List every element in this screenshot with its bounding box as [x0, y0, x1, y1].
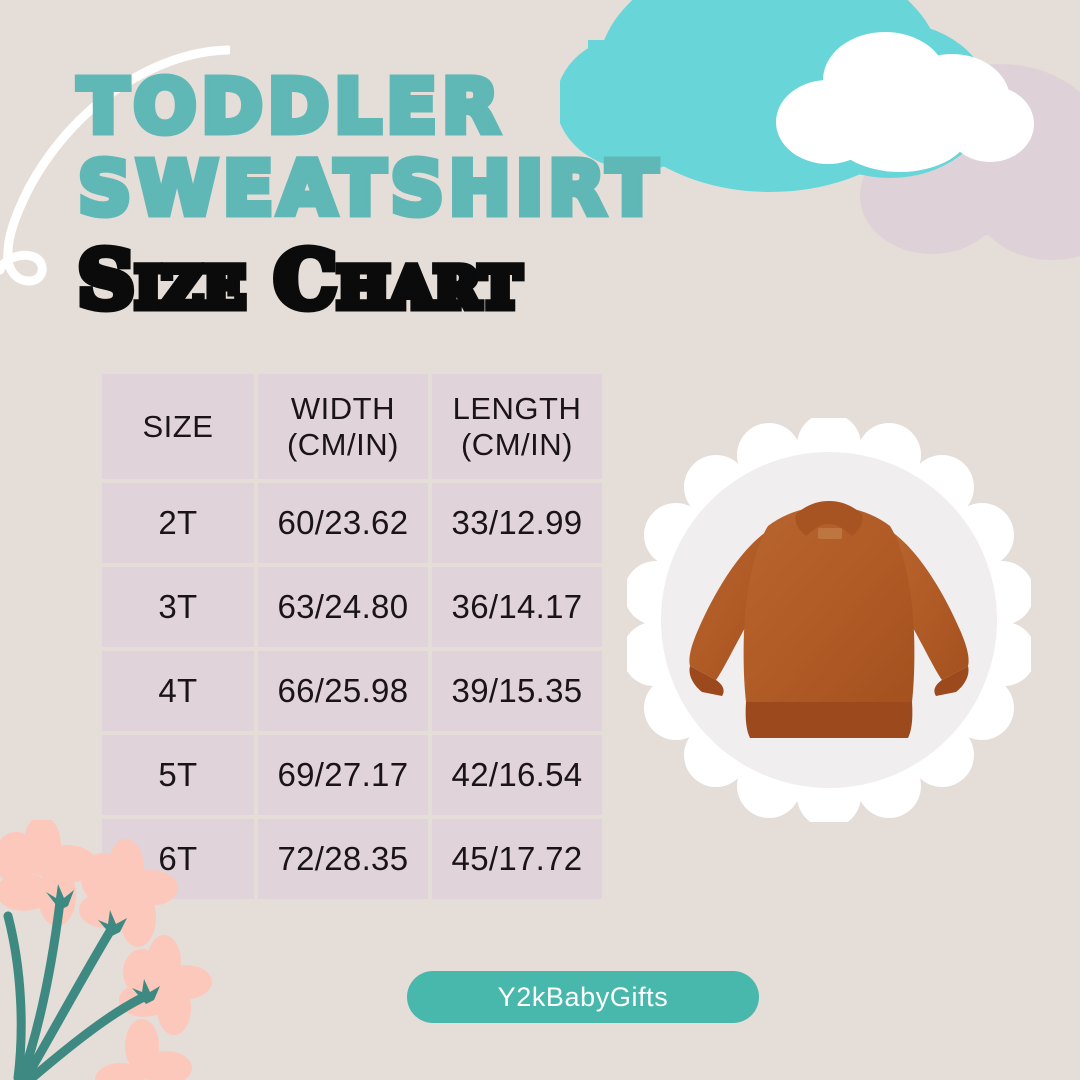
cell-width: 72/28.35: [258, 819, 428, 899]
table-header-row: SIZE WIDTH (CM/IN) LENGTH (CM/IN): [102, 374, 602, 479]
swirl-loop-icon: [0, 252, 42, 281]
cell-width: 60/23.62: [258, 483, 428, 563]
size-chart-table: SIZE WIDTH (CM/IN) LENGTH (CM/IN) 2T 60/…: [98, 370, 606, 903]
product-photo-background: [661, 452, 997, 788]
column-header-length-line2: (CM/IN): [432, 427, 602, 463]
cell-length: 39/15.35: [432, 651, 602, 731]
poster-heading: TODDLER SWEATSHIRT Size Chart: [78, 72, 778, 320]
cell-size: 6T: [102, 819, 254, 899]
column-header-length-line1: LENGTH: [432, 391, 602, 427]
cell-size: 2T: [102, 483, 254, 563]
cell-length: 45/17.72: [432, 819, 602, 899]
column-header-size-line1: SIZE: [102, 409, 254, 445]
cloud-white-icon: [776, 32, 1034, 172]
cell-length: 42/16.54: [432, 735, 602, 815]
table-row: 4T 66/25.98 39/15.35: [102, 651, 602, 731]
size-chart-poster: TODDLER SWEATSHIRT Size Chart SIZE WIDTH…: [0, 0, 1080, 1080]
table-header: SIZE WIDTH (CM/IN) LENGTH (CM/IN): [102, 374, 602, 479]
column-header-width: WIDTH (CM/IN): [258, 374, 428, 479]
column-header-width-line1: WIDTH: [258, 391, 428, 427]
column-header-length: LENGTH (CM/IN): [432, 374, 602, 479]
title-line-1: TODDLER: [78, 72, 778, 144]
table-row: 5T 69/27.17 42/16.54: [102, 735, 602, 815]
cell-width: 66/25.98: [258, 651, 428, 731]
cloud-mauve-icon: [860, 64, 1080, 260]
column-header-width-line2: (CM/IN): [258, 427, 428, 463]
table-row: 2T 60/23.62 33/12.99: [102, 483, 602, 563]
table-body: 2T 60/23.62 33/12.99 3T 63/24.80 36/14.1…: [102, 483, 602, 899]
table-row: 3T 63/24.80 36/14.17: [102, 567, 602, 647]
title-line-2: SWEATSHIRT: [78, 154, 778, 226]
cell-length: 33/12.99: [432, 483, 602, 563]
page-title: Size Chart: [78, 242, 778, 320]
sweatshirt-image: [664, 470, 994, 770]
cell-size: 3T: [102, 567, 254, 647]
cell-width: 63/24.80: [258, 567, 428, 647]
cell-length: 36/14.17: [432, 567, 602, 647]
flower-stems-icon: [8, 902, 146, 1078]
table-row: 6T 72/28.35 45/17.72: [102, 819, 602, 899]
shop-name-badge[interactable]: Y2kBabyGifts: [407, 971, 759, 1023]
product-photo-frame: [627, 418, 1031, 822]
cell-size: 4T: [102, 651, 254, 731]
cell-size: 5T: [102, 735, 254, 815]
shop-name-label: Y2kBabyGifts: [498, 982, 669, 1013]
cell-width: 69/27.17: [258, 735, 428, 815]
column-header-size: SIZE: [102, 374, 254, 479]
